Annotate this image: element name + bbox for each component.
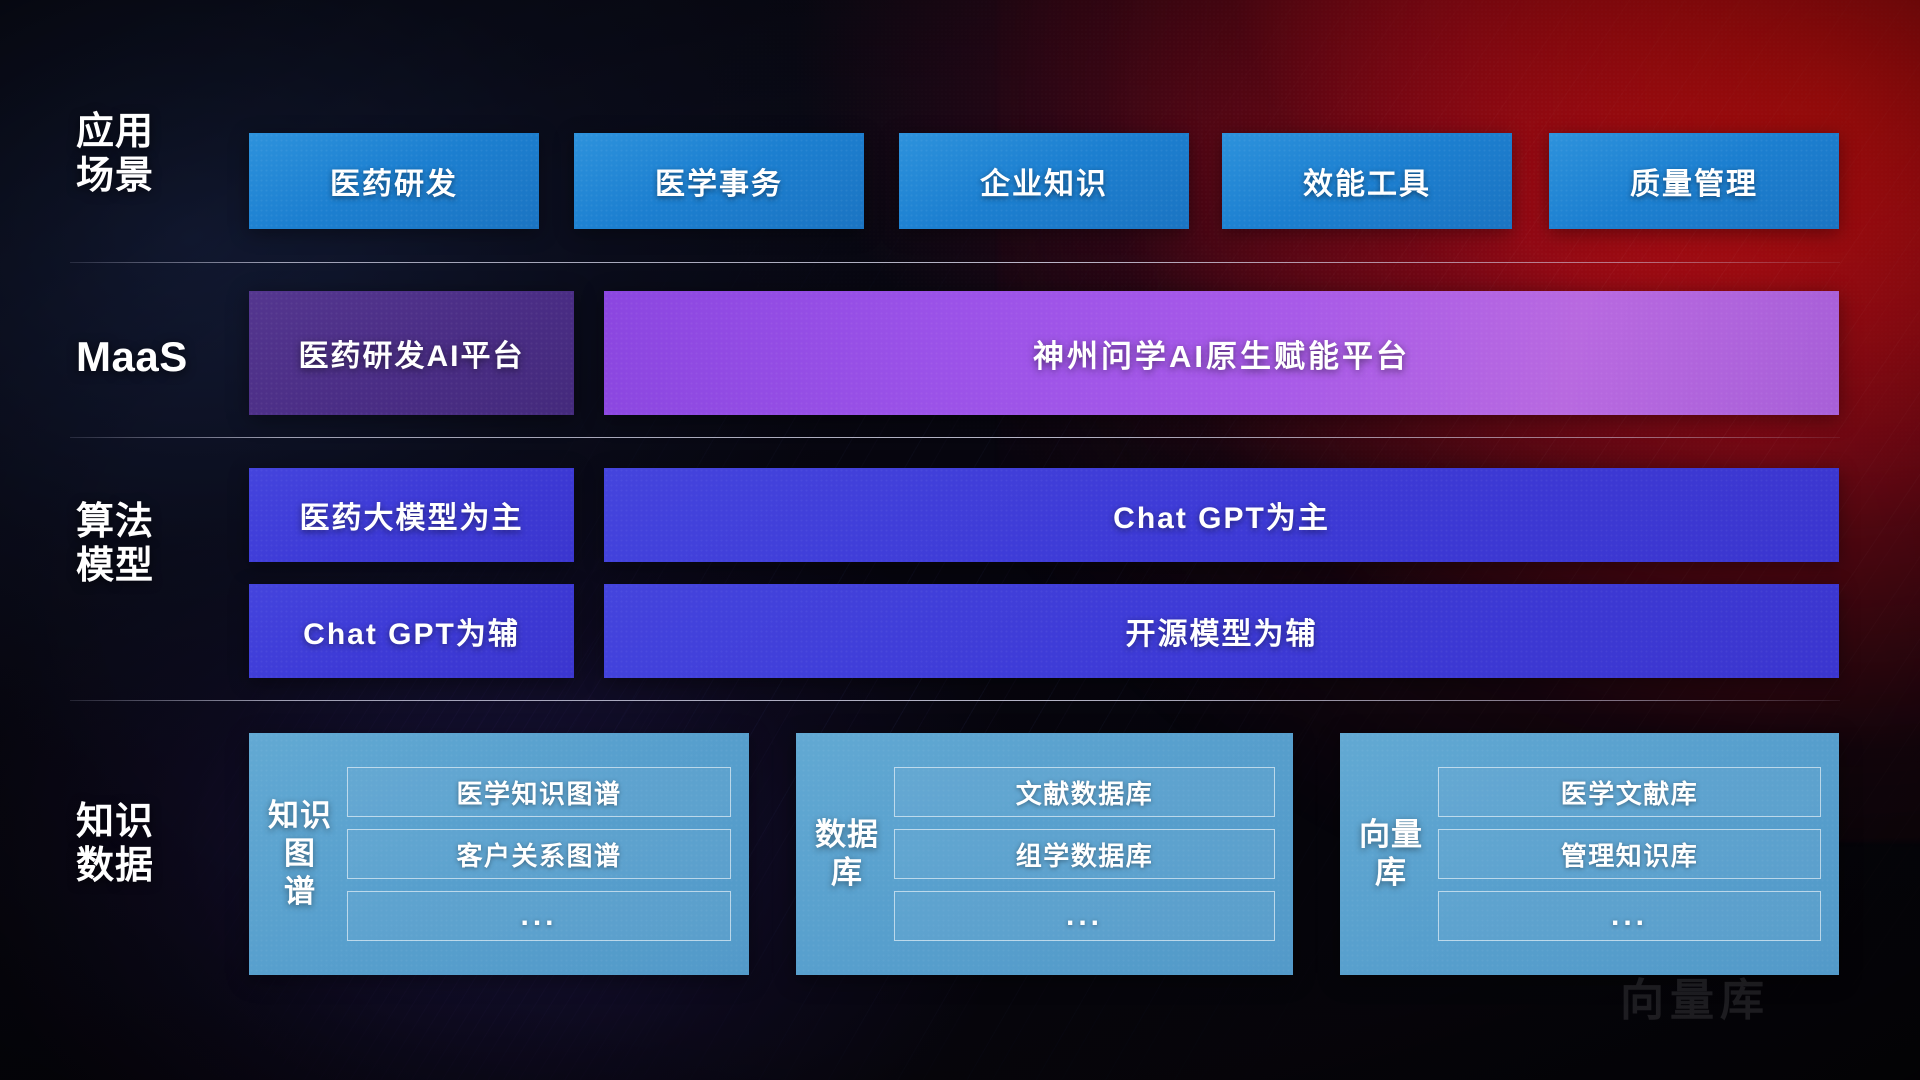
- maas-box-drug-rnd-ai-platform[interactable]: 医药研发AI平台: [249, 291, 574, 415]
- algo-box-chatgpt-secondary[interactable]: Chat GPT为辅: [249, 584, 574, 678]
- knowledge-group-vector-database[interactable]: 向量 库 医学文献库 管理知识库 ...: [1340, 733, 1839, 975]
- knowledge-item-list: 医学知识图谱 客户关系图谱 ...: [337, 767, 731, 941]
- knowledge-item-medical-knowledge-graph[interactable]: 医学知识图谱: [347, 767, 731, 817]
- divider-after-maas: [70, 437, 1840, 438]
- knowledge-group-title-database: 数据 库: [810, 816, 884, 892]
- row-label-application-scenarios: 应用 场景: [76, 110, 236, 198]
- app-box-quality-management[interactable]: 质量管理: [1549, 133, 1839, 229]
- divider-after-algorithm-model: [70, 700, 1840, 701]
- knowledge-item-list: 医学文献库 管理知识库 ...: [1428, 767, 1821, 941]
- app-box-efficiency-tools[interactable]: 效能工具: [1222, 133, 1512, 229]
- row-label-maas: MaaS: [76, 333, 236, 382]
- app-box-enterprise-knowledge[interactable]: 企业知识: [899, 133, 1189, 229]
- app-box-drug-rnd[interactable]: 医药研发: [249, 133, 539, 229]
- divider-after-application-scenarios: [70, 262, 1840, 263]
- knowledge-group-title-vector-database: 向量 库: [1354, 816, 1428, 892]
- knowledge-item-more-ellipsis[interactable]: ...: [1438, 891, 1821, 941]
- knowledge-item-customer-relation-graph[interactable]: 客户关系图谱: [347, 829, 731, 879]
- maas-box-shenzhou-wenxue-platform[interactable]: 神州问学AI原生赋能平台: [604, 291, 1839, 415]
- knowledge-group-knowledge-graph[interactable]: 知识 图 谱 医学知识图谱 客户关系图谱 ...: [249, 733, 749, 975]
- algo-box-opensource-secondary[interactable]: 开源模型为辅: [604, 584, 1839, 678]
- algo-box-chatgpt-primary[interactable]: Chat GPT为主: [604, 468, 1839, 562]
- knowledge-item-literature-database[interactable]: 文献数据库: [894, 767, 1275, 817]
- knowledge-item-medical-literature-library[interactable]: 医学文献库: [1438, 767, 1821, 817]
- knowledge-group-title-knowledge-graph: 知识 图 谱: [263, 797, 337, 910]
- app-box-medical-affairs[interactable]: 医学事务: [574, 133, 864, 229]
- knowledge-item-more-ellipsis[interactable]: ...: [894, 891, 1275, 941]
- architecture-diagram: 应用 场景 医药研发 医学事务 企业知识 效能工具 质量管理 MaaS 医药研发…: [0, 0, 1920, 1080]
- row-label-algorithm-model: 算法 模型: [76, 500, 236, 588]
- knowledge-item-more-ellipsis[interactable]: ...: [347, 891, 731, 941]
- algo-box-medical-llm-primary[interactable]: 医药大模型为主: [249, 468, 574, 562]
- knowledge-group-database[interactable]: 数据 库 文献数据库 组学数据库 ...: [796, 733, 1293, 975]
- knowledge-item-omics-database[interactable]: 组学数据库: [894, 829, 1275, 879]
- row-label-knowledge-data: 知识 数据: [76, 800, 236, 888]
- knowledge-item-management-knowledge-library[interactable]: 管理知识库: [1438, 829, 1821, 879]
- knowledge-item-list: 文献数据库 组学数据库 ...: [884, 767, 1275, 941]
